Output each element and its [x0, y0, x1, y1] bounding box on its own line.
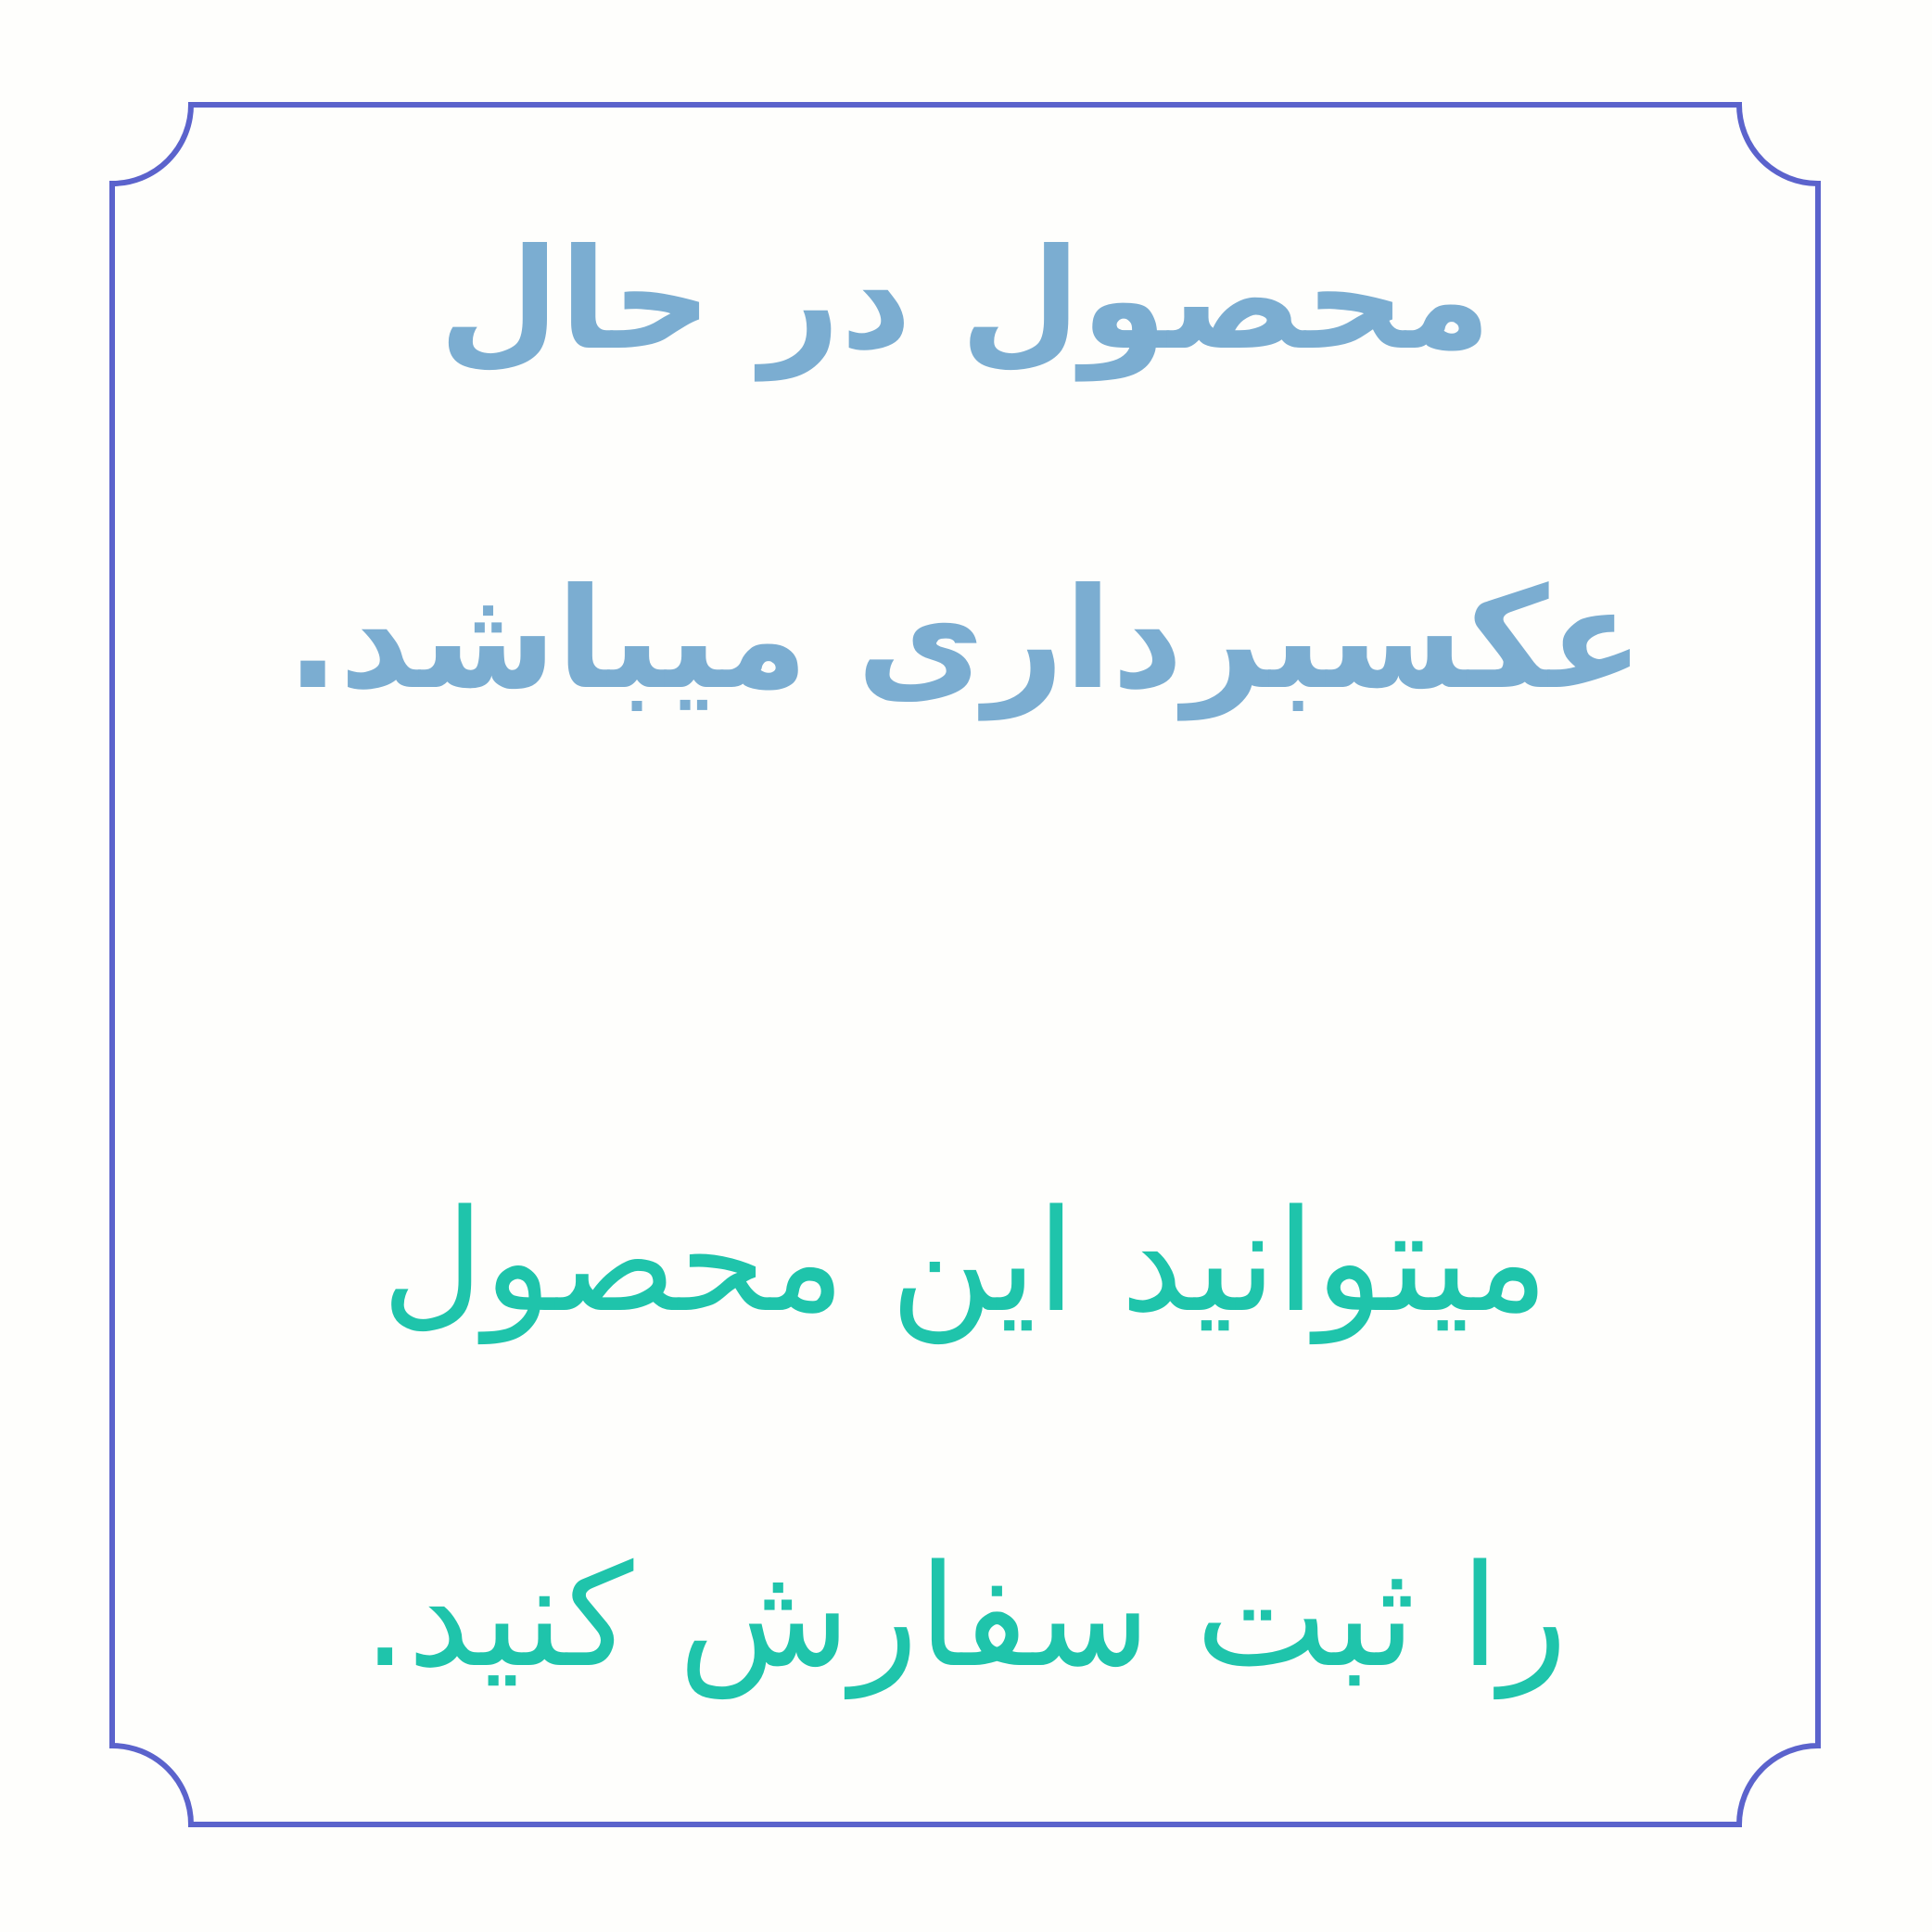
- status-message-line-1: محصول در حال: [168, 216, 1762, 386]
- status-message-line-2: عکسبرداری میباشد.: [168, 555, 1762, 725]
- order-message-line-1: میتوانید این محصول: [168, 1173, 1762, 1351]
- order-message-line-2: را ثبت سفارش کنید.: [168, 1528, 1762, 1706]
- status-message: محصول در حال عکسبرداری میباشد.: [168, 46, 1762, 895]
- order-message: میتوانید این محصول را ثبت سفارش کنید.: [168, 995, 1762, 1883]
- card-content: محصول در حال عکسبرداری میباشد. میتوانید …: [112, 105, 1818, 1824]
- placeholder-card: محصول در حال عکسبرداری میباشد. میتوانید …: [0, 0, 1932, 1932]
